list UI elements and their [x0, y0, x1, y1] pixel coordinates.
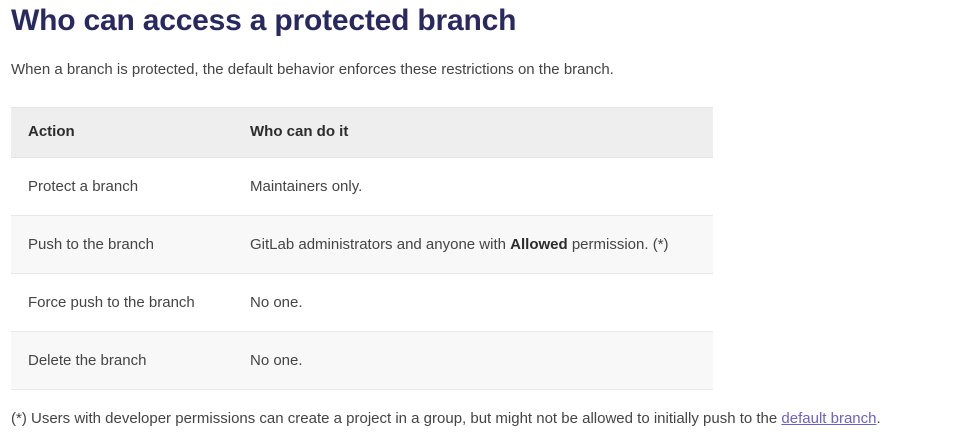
default-branch-link[interactable]: default branch: [781, 410, 876, 427]
table-row: Protect a branch Maintainers only.: [11, 158, 713, 216]
cell-who-text: No one.: [239, 293, 713, 312]
cell-who-text: Maintainers only.: [239, 177, 713, 196]
table-header: Action Who can do it: [11, 108, 713, 158]
column-header-who-label: Who can do it: [239, 123, 713, 141]
table-row: Delete the branch No one.: [11, 332, 713, 390]
footnote-text-before: (*) Users with developer permissions can…: [11, 410, 781, 427]
cell-who-prefix: Maintainers only.: [250, 178, 362, 195]
cell-who-suffix: permission. (*): [568, 236, 669, 253]
cell-action: Delete the branch: [11, 332, 239, 390]
table-row: Force push to the branch No one.: [11, 274, 713, 332]
table-header-row: Action Who can do it: [11, 108, 713, 158]
protected-branch-access-table: Action Who can do it Protect a branch Ma…: [11, 107, 713, 390]
cell-action: Push to the branch: [11, 216, 239, 274]
cell-who: No one.: [239, 274, 713, 332]
cell-who-prefix: GitLab administrators and anyone with: [250, 236, 510, 253]
cell-who-text: GitLab administrators and anyone with Al…: [239, 235, 713, 254]
cell-action: Protect a branch: [11, 158, 239, 216]
footnote: (*) Users with developer permissions can…: [11, 390, 958, 429]
cell-who: GitLab administrators and anyone with Al…: [239, 216, 713, 274]
intro-paragraph: When a branch is protected, the default …: [11, 40, 958, 80]
column-header-action: Action: [11, 108, 239, 158]
document-page: Who can access a protected branch When a…: [0, 0, 969, 437]
cell-who-text: No one.: [239, 351, 713, 370]
cell-who-strong: Allowed: [510, 236, 568, 253]
cell-who-prefix: No one.: [250, 294, 303, 311]
cell-action: Force push to the branch: [11, 274, 239, 332]
column-header-who: Who can do it: [239, 108, 713, 158]
table-body: Protect a branch Maintainers only. Push …: [11, 158, 713, 390]
cell-who: Maintainers only.: [239, 158, 713, 216]
cell-who: No one.: [239, 332, 713, 390]
page-title: Who can access a protected branch: [11, 0, 958, 40]
cell-who-prefix: No one.: [250, 352, 303, 369]
table-row: Push to the branch GitLab administrators…: [11, 216, 713, 274]
footnote-text-after: .: [876, 410, 880, 427]
